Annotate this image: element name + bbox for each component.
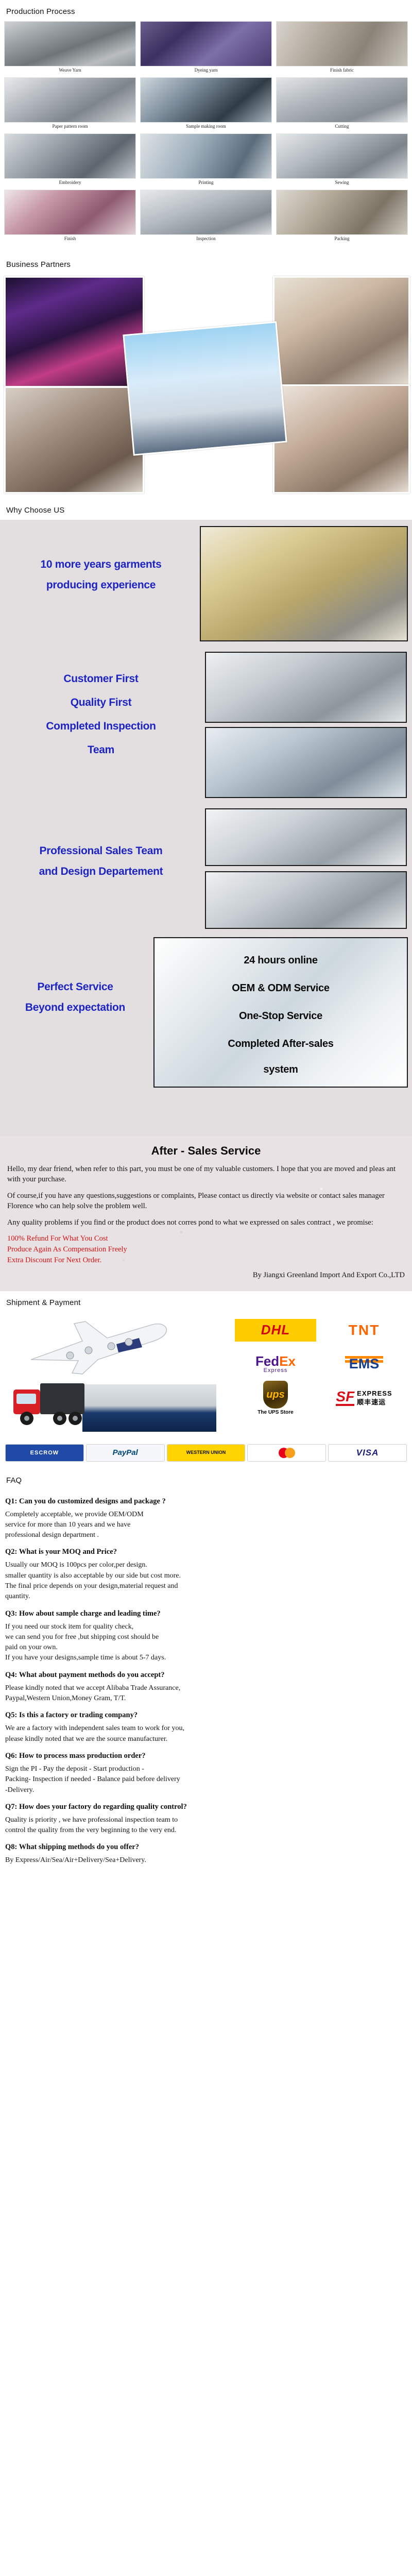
production-process-section: Production Process Weave Yarn Dyeing yar… <box>0 0 412 253</box>
production-row-3: Embroidery Printing Sewing <box>4 133 408 189</box>
production-step-12-caption: Packing <box>276 235 408 245</box>
production-row-2: Paper pattern room Sample making room Cu… <box>4 77 408 132</box>
why-block-3-line-2: and Design Departement <box>0 862 202 882</box>
production-step-6: Cutting <box>276 77 408 132</box>
production-step-12: Packing <box>276 190 408 245</box>
faq-item: Q6: How to process mass production order… <box>5 1752 407 1795</box>
sf-express-logo: SF EXPRESS 顺丰速运 <box>323 1384 405 1412</box>
production-step-4: Paper pattern room <box>4 77 136 132</box>
payment-visa[interactable]: VISA <box>328 1444 407 1462</box>
production-step-5-image <box>140 77 272 123</box>
after-sales-paragraph-2: Of course,if you have any questions,sugg… <box>7 1191 405 1212</box>
faq-title: FAQ <box>5 1473 407 1490</box>
production-step-9: Sewing <box>276 133 408 189</box>
faq-item: Q5: Is this a factory or trading company… <box>5 1711 407 1744</box>
why-choose-us-section: Why Choose US 10 more years garments pro… <box>0 499 412 1136</box>
production-step-11-caption: Inspection <box>140 235 272 245</box>
production-step-1-image <box>4 21 136 66</box>
production-step-6-caption: Cutting <box>276 123 408 132</box>
business-partners-section: Business Partners <box>0 253 412 496</box>
payment-paypal[interactable]: PayPal <box>86 1444 165 1462</box>
production-step-4-image <box>4 77 136 123</box>
faq-answer-5: We are a factory with independent sales … <box>5 1723 407 1744</box>
production-step-8-caption: Printing <box>140 179 272 189</box>
production-step-5-caption: Sample making room <box>140 123 272 132</box>
product-detail-page: Production Process Weave Yarn Dyeing yar… <box>0 0 412 1882</box>
production-step-1: Weave Yarn <box>4 21 136 76</box>
production-row-1: Weave Yarn Dyeing yarn Finish fabric <box>4 21 408 76</box>
ems-logo: EMS <box>323 1350 405 1378</box>
partner-photo-3 <box>273 276 410 386</box>
shipment-graphics: DHL TNT FedEx Express EMS ups <box>0 1312 412 1441</box>
faq-question-6: Q6: How to process mass production order… <box>5 1752 407 1760</box>
faq-answer-7: Quality is priority , we have profession… <box>5 1815 407 1836</box>
ups-logo: ups The UPS Store <box>235 1384 316 1412</box>
why-block-1-line-2: producing experience <box>3 575 199 596</box>
production-step-2-image <box>140 21 272 66</box>
why-block-4-line-1: Perfect Service <box>0 977 150 997</box>
sf-wordmark: SF EXPRESS 顺丰速运 <box>336 1389 392 1406</box>
why-block-1: 10 more years garments producing experie… <box>0 520 412 649</box>
faq-answer-3: If you need our stock item for quality c… <box>5 1622 407 1664</box>
tnt-logo: TNT <box>323 1316 405 1344</box>
production-step-7-caption: Embroidery <box>4 179 136 189</box>
dhl-label: DHL <box>235 1319 316 1342</box>
business-partners-collage <box>0 274 412 496</box>
faq-question-8: Q8: What shipping methods do you offer? <box>5 1843 407 1852</box>
after-sales-promise-1: 100% Refund For What You Cost <box>7 1233 405 1244</box>
after-sales-paragraph-1: Hello, my dear friend, when refer to thi… <box>7 1164 405 1185</box>
production-step-9-caption: Sewing <box>276 179 408 189</box>
after-sales-promise-3: Extra Discount For Next Order. <box>7 1255 405 1266</box>
why-choose-us-title: Why Choose US <box>0 499 412 520</box>
faq-question-1: Q1: Can you do customized designs and pa… <box>5 1497 407 1506</box>
why-block-5-line-2: OEM & ODM Service <box>158 978 404 998</box>
faq-item: Q4: What about payment methods do you ac… <box>5 1671 407 1704</box>
faq-answer-6: Sign the PI - Pay the deposit - Start pr… <box>5 1764 407 1795</box>
why-block-3: Professional Sales Team and Design Depar… <box>0 803 412 937</box>
production-step-3-image <box>276 21 408 66</box>
faq-item: Q2: What is your MOQ and Price? Usually … <box>5 1548 407 1602</box>
faq-item: Q1: Can you do customized designs and pa… <box>5 1497 407 1541</box>
ups-wordmark: ups The UPS Store <box>257 1381 293 1415</box>
after-sales-service-section: After - Sales Service Hello, my dear fri… <box>0 1136 412 1291</box>
why-block-2-line-3: Completed Inspection <box>0 717 202 737</box>
faq-question-3: Q3: How about sample charge and leading … <box>5 1609 407 1618</box>
why-choose-us-band: 10 more years garments producing experie… <box>0 520 412 1136</box>
truck-icon <box>10 1374 88 1431</box>
production-step-1-caption: Weave Yarn <box>4 66 136 76</box>
faq-item: Q3: How about sample charge and leading … <box>5 1609 407 1664</box>
after-sales-promise-2: Produce Again As Compensation Freely <box>7 1244 405 1255</box>
production-step-2-caption: Dyeing yarn <box>140 66 272 76</box>
production-step-7: Embroidery <box>4 133 136 189</box>
production-step-11: Inspection <box>140 190 272 245</box>
production-process-grid: Weave Yarn Dyeing yarn Finish fabric Pap… <box>0 21 412 253</box>
faq-answer-1: Completely acceptable, we provide OEM/OD… <box>5 1510 407 1541</box>
partner-photo-4 <box>4 386 144 494</box>
faq-answer-2: Usually our MOQ is 100pcs per color,per … <box>5 1560 407 1602</box>
partner-photo-1 <box>4 276 144 387</box>
sf-mark: SF <box>336 1390 354 1406</box>
production-step-10-caption: Finish <box>4 235 136 245</box>
why-block-3-image-top <box>205 808 407 866</box>
courier-logos: DHL TNT FedEx Express EMS ups <box>235 1316 405 1412</box>
why-block-2-image-bottom <box>205 727 407 798</box>
fedex-fed: Fed <box>255 1353 279 1369</box>
sf-sub-en: EXPRESS <box>357 1389 392 1397</box>
fedex-wordmark: FedEx Express <box>255 1354 296 1374</box>
dhl-logo: DHL <box>235 1316 316 1344</box>
why-block-3-line-1: Professional Sales Team <box>0 841 202 861</box>
fedex-logo: FedEx Express <box>235 1350 316 1378</box>
why-block-2: Customer First Quality First Completed I… <box>0 649 412 803</box>
why-block-3-image-bottom <box>205 871 407 929</box>
payment-mastercard[interactable] <box>247 1444 326 1462</box>
faq-item: Q7: How does your factory do regarding q… <box>5 1803 407 1836</box>
faq-question-4: Q4: What about payment methods do you ac… <box>5 1671 407 1680</box>
payment-escrow[interactable]: ESCROW <box>5 1444 84 1462</box>
production-step-8: Printing <box>140 133 272 189</box>
payment-western-union[interactable]: WESTERN UNION <box>167 1444 246 1462</box>
why-block-2-line-1: Customer First <box>0 669 202 689</box>
sf-sub-cn: 顺丰速运 <box>357 1398 392 1406</box>
fedex-ex: Ex <box>279 1353 296 1369</box>
faq-answer-4: Please kindly noted that we accept Aliba… <box>5 1683 407 1704</box>
production-step-12-image <box>276 190 408 235</box>
production-step-3: Finish fabric <box>276 21 408 76</box>
why-block-2-line-2: Quality First <box>0 693 202 713</box>
production-step-7-image <box>4 133 136 179</box>
production-row-4: Finish Inspection Packing <box>4 190 408 245</box>
why-block-1-line-1: 10 more years garments <box>3 555 199 575</box>
ups-shield-icon: ups <box>263 1381 288 1409</box>
production-step-5: Sample making room <box>140 77 272 132</box>
why-block-5-line-5: system <box>158 1060 404 1079</box>
shipment-payment-section: Shipment & Payment <box>0 1291 412 1471</box>
faq-question-2: Q2: What is your MOQ and Price? <box>5 1548 407 1556</box>
ups-sub: The UPS Store <box>257 1410 293 1415</box>
why-block-2-line-4: Team <box>0 740 202 760</box>
container-ship-image <box>82 1384 216 1432</box>
production-step-11-image <box>140 190 272 235</box>
tnt-label: TNT <box>349 1322 380 1338</box>
production-step-10-image <box>4 190 136 235</box>
production-step-10: Finish <box>4 190 136 245</box>
why-block-2-image-top <box>205 652 407 723</box>
sf-text: EXPRESS 顺丰速运 <box>357 1389 392 1406</box>
production-process-title: Production Process <box>0 0 412 21</box>
ems-label: EMS <box>345 1356 384 1372</box>
after-sales-paragraph-3: Any quality problems if you find or the … <box>7 1217 405 1228</box>
why-block-4-line-2: Beyond expectation <box>0 998 150 1018</box>
why-block-5-line-4: Completed After-sales <box>158 1034 404 1054</box>
production-step-8-image <box>140 133 272 179</box>
why-block-4: Perfect Service Beyond expectation 24 ho… <box>0 937 412 1092</box>
why-band-spacer <box>0 1092 412 1136</box>
why-block-1-image <box>200 526 408 641</box>
faq-question-7: Q7: How does your factory do regarding q… <box>5 1803 407 1811</box>
faq-question-5: Q5: Is this a factory or trading company… <box>5 1711 407 1720</box>
airplane-icon <box>21 1316 175 1378</box>
production-step-9-image <box>276 133 408 179</box>
after-sales-title: After - Sales Service <box>7 1144 405 1158</box>
payment-methods: ESCROW PayPal WESTERN UNION VISA <box>0 1441 412 1469</box>
business-partners-title: Business Partners <box>0 253 412 274</box>
production-step-3-caption: Finish fabric <box>276 66 408 76</box>
mastercard-icon <box>279 1448 295 1458</box>
faq-section: FAQ Q1: Can you do customized designs an… <box>0 1471 412 1882</box>
production-step-2: Dyeing yarn <box>140 21 272 76</box>
why-block-5-line-1: 24 hours online <box>158 951 404 970</box>
shipment-payment-title: Shipment & Payment <box>0 1291 412 1312</box>
faq-item: Q8: What shipping methods do you offer? … <box>5 1843 407 1866</box>
partner-photo-2 <box>123 321 287 455</box>
production-step-6-image <box>276 77 408 123</box>
after-sales-signature: By Jiangxi Greenland Import And Export C… <box>7 1271 405 1280</box>
production-step-4-caption: Paper pattern room <box>4 123 136 132</box>
partner-photo-5 <box>273 384 410 494</box>
faq-answer-8: By Express/Air/Sea/Air+Delivery/Sea+Deli… <box>5 1855 407 1866</box>
why-block-5-line-3: One-Stop Service <box>158 1006 404 1026</box>
